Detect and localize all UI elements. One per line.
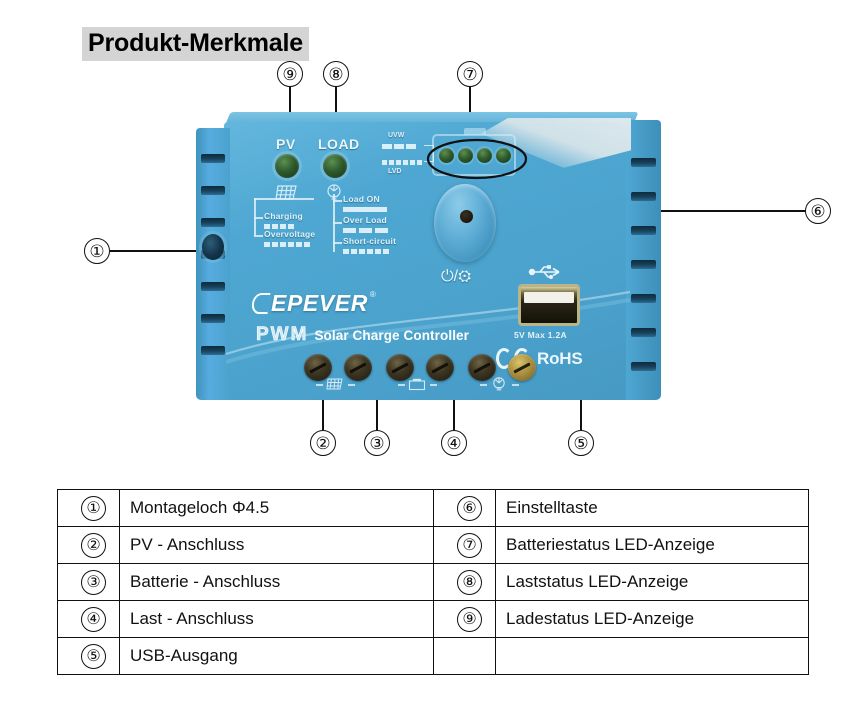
legend-text-empty	[496, 638, 809, 675]
model-prefix: PWM	[256, 324, 308, 346]
usb-spec-label: 5V Max 1.2A	[514, 330, 567, 340]
callout-7-ellipse	[426, 138, 528, 180]
load-terminal-icon	[490, 376, 508, 392]
setting-button[interactable]	[434, 184, 496, 262]
table-row: ⑤ USB-Ausgang	[58, 638, 809, 675]
legend-text-5: USB-Ausgang	[120, 638, 434, 675]
legend-text-3: Batterie - Anschluss	[120, 564, 434, 601]
uvw-label: UVW	[388, 132, 404, 139]
battery-terminal-icon	[408, 378, 426, 391]
legend-num-6: ⑥	[434, 490, 496, 527]
callout-4: ④	[441, 430, 467, 456]
legend-num-8: ⑧	[434, 564, 496, 601]
pv-terminal-screw-1	[304, 354, 332, 381]
setting-button-center[interactable]	[460, 210, 473, 223]
power-gear-icon: ⏻/⚙	[441, 268, 471, 286]
usb-icon	[526, 264, 570, 280]
legend-text-1: Montageloch Φ4.5	[120, 490, 434, 527]
legend-num-5: ⑤	[58, 638, 120, 675]
pv-terminal-screw-2	[344, 354, 372, 381]
battery-terminal-screw-2	[426, 354, 454, 381]
legend-text-6: Einstelltaste	[496, 490, 809, 527]
battery-terminal-screw-1	[386, 354, 414, 381]
brand-swoosh-icon	[251, 293, 271, 314]
model-name: Solar Charge Controller	[314, 328, 469, 343]
table-row: ① Montageloch Φ4.5 ⑥ Einstelltaste	[58, 490, 809, 527]
page-root: Produkt-Merkmale ⑨ ⑧ ⑦ ① ⑥ ② ③ ④ ⑤	[0, 0, 861, 711]
mounting-hole	[202, 234, 224, 260]
right-heatsink	[626, 120, 661, 400]
table-row: ④ Last - Anschluss ⑨ Ladestatus LED-Anze…	[58, 601, 809, 638]
legend-num-9: ⑨	[434, 601, 496, 638]
table-row: ② PV - Anschluss ⑦ Batteriestatus LED-An…	[58, 527, 809, 564]
legend-num-1: ①	[58, 490, 120, 527]
callout-1: ①	[84, 238, 110, 264]
legend-num-4: ④	[58, 601, 120, 638]
left-heatsink	[196, 128, 230, 400]
callout-2: ②	[310, 430, 336, 456]
pv-label: PV	[276, 136, 296, 152]
legend-num-3: ③	[58, 564, 120, 601]
pv-terminal-icon	[326, 378, 344, 391]
load-status-led	[323, 154, 347, 178]
charging-label: Charging	[264, 211, 303, 221]
legend-text-4: Last - Anschluss	[120, 601, 434, 638]
over-load-label: Over Load	[343, 215, 387, 225]
usb-port-tongue	[524, 292, 574, 303]
charging-status-led	[275, 154, 299, 178]
model-line: PWM Solar Charge Controller	[256, 324, 469, 346]
load-terminal-screw-2	[508, 354, 536, 381]
charge-controller-device: PV LOAD UVW L	[196, 112, 661, 400]
callout-8: ⑧	[323, 61, 349, 87]
brand-name: EPEVER	[271, 290, 368, 317]
legend-num-2: ②	[58, 527, 120, 564]
load-label: LOAD	[318, 136, 360, 152]
callout-3: ③	[364, 430, 390, 456]
legend-text-2: PV - Anschluss	[120, 527, 434, 564]
legend-num-empty	[434, 638, 496, 675]
callout-6: ⑥	[805, 198, 831, 224]
table-row: ③ Batterie - Anschluss ⑧ Laststatus LED-…	[58, 564, 809, 601]
callout-5: ⑤	[568, 430, 594, 456]
callout-1-leader	[110, 250, 206, 252]
callout-9: ⑨	[277, 61, 303, 87]
registered-mark: ®	[370, 290, 376, 299]
callout-7: ⑦	[457, 61, 483, 87]
overvoltage-label: Overvoltage	[264, 229, 315, 239]
brand-logo: EPEVER ®	[252, 290, 376, 317]
short-circuit-label: Short-circuit	[343, 236, 396, 246]
legend-num-7: ⑦	[434, 527, 496, 564]
legend-text-8: Laststatus LED-Anzeige	[496, 564, 809, 601]
legend-text-9: Ladestatus LED-Anzeige	[496, 601, 809, 638]
legend-table: ① Montageloch Φ4.5 ⑥ Einstelltaste ② PV …	[57, 489, 809, 675]
lvd-label: LVD	[388, 168, 401, 175]
load-on-label: Load ON	[343, 194, 380, 204]
legend-text-7: Batteriestatus LED-Anzeige	[496, 527, 809, 564]
page-title: Produkt-Merkmale	[82, 27, 309, 61]
usb-output-port	[518, 284, 580, 326]
rohs-mark-label: RoHS	[537, 349, 582, 369]
